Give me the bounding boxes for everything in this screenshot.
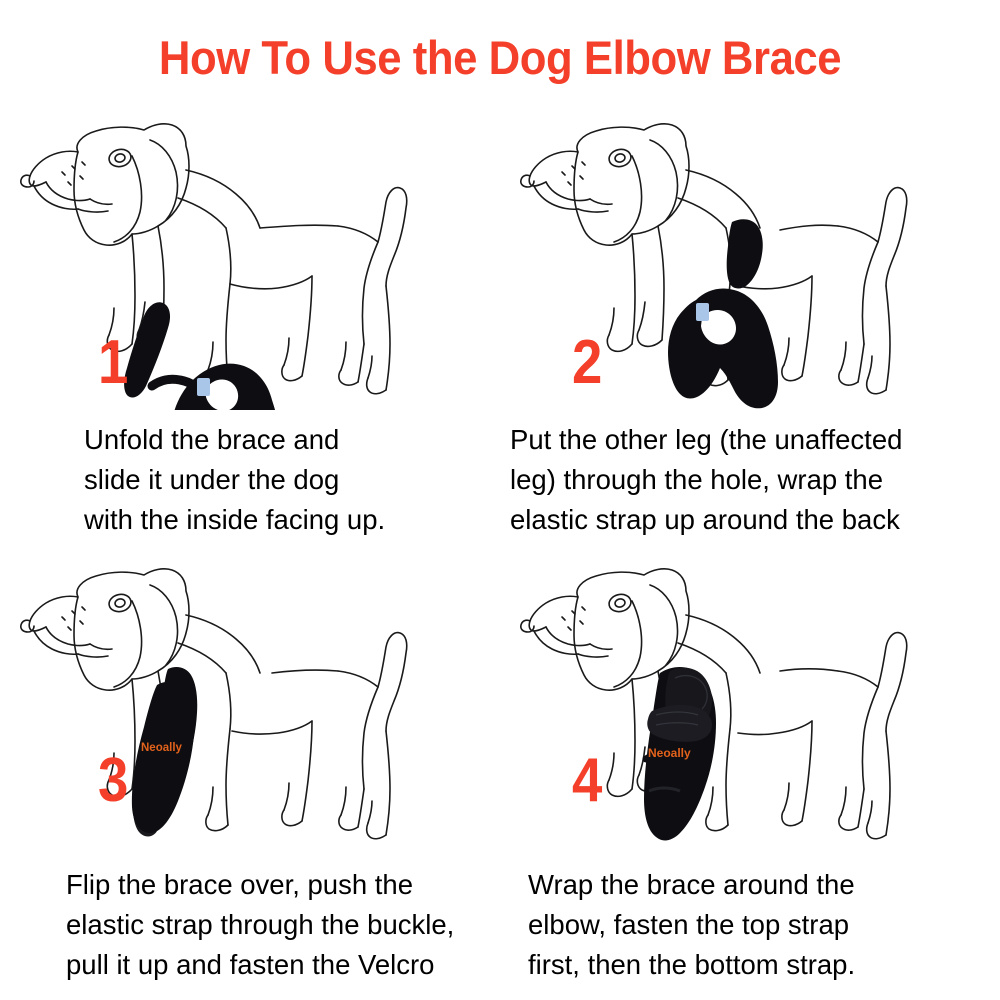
brace-wrapped-4: Neoally [644,667,716,840]
unfolded-brace-1 [124,302,282,410]
step-number-4: 4 [572,750,602,812]
step-panel-3: Neoally 3 Flip the brace over, push the … [0,545,500,975]
brace-flipped-3: Neoally [132,667,197,836]
step-1-illustration [0,100,500,410]
step-panel-4: Neoally 4 Wrap the brace around the elbo… [500,545,1000,975]
dog-line-art-3 [21,569,407,839]
step-panel-2: 2 Put the other leg (the unaffected leg)… [500,100,1000,530]
brace-label-tag-1 [197,378,210,396]
step-3-illustration: Neoally [0,545,500,855]
step-number-3: 3 [98,750,128,812]
elastic-strap-over-back [727,219,763,288]
dog-line-art-1 [21,124,407,394]
brace-with-strap-over-back-2 [668,219,778,408]
brand-logo-3: Neoally [141,742,183,754]
infographic-page: How To Use the Dog Elbow Brace [0,0,1000,1000]
step-caption-1: Unfold the brace and slide it under the … [84,420,484,540]
step-panel-1: 1 Unfold the brace and slide it under th… [0,100,500,530]
step-number-1: 1 [98,332,128,394]
velcro-patch-4 [647,705,712,742]
brand-logo-4: Neoally [648,746,691,760]
brace-body-3 [132,682,195,833]
step-caption-3: Flip the brace over, push the elastic st… [66,865,496,985]
brace-label-tag-2 [696,303,709,321]
page-title: How To Use the Dog Elbow Brace [35,30,965,85]
step-caption-4: Wrap the brace around the elbow, fasten … [528,865,978,985]
step-number-2: 2 [572,332,602,394]
step-caption-2: Put the other leg (the unaffected leg) t… [510,420,990,540]
